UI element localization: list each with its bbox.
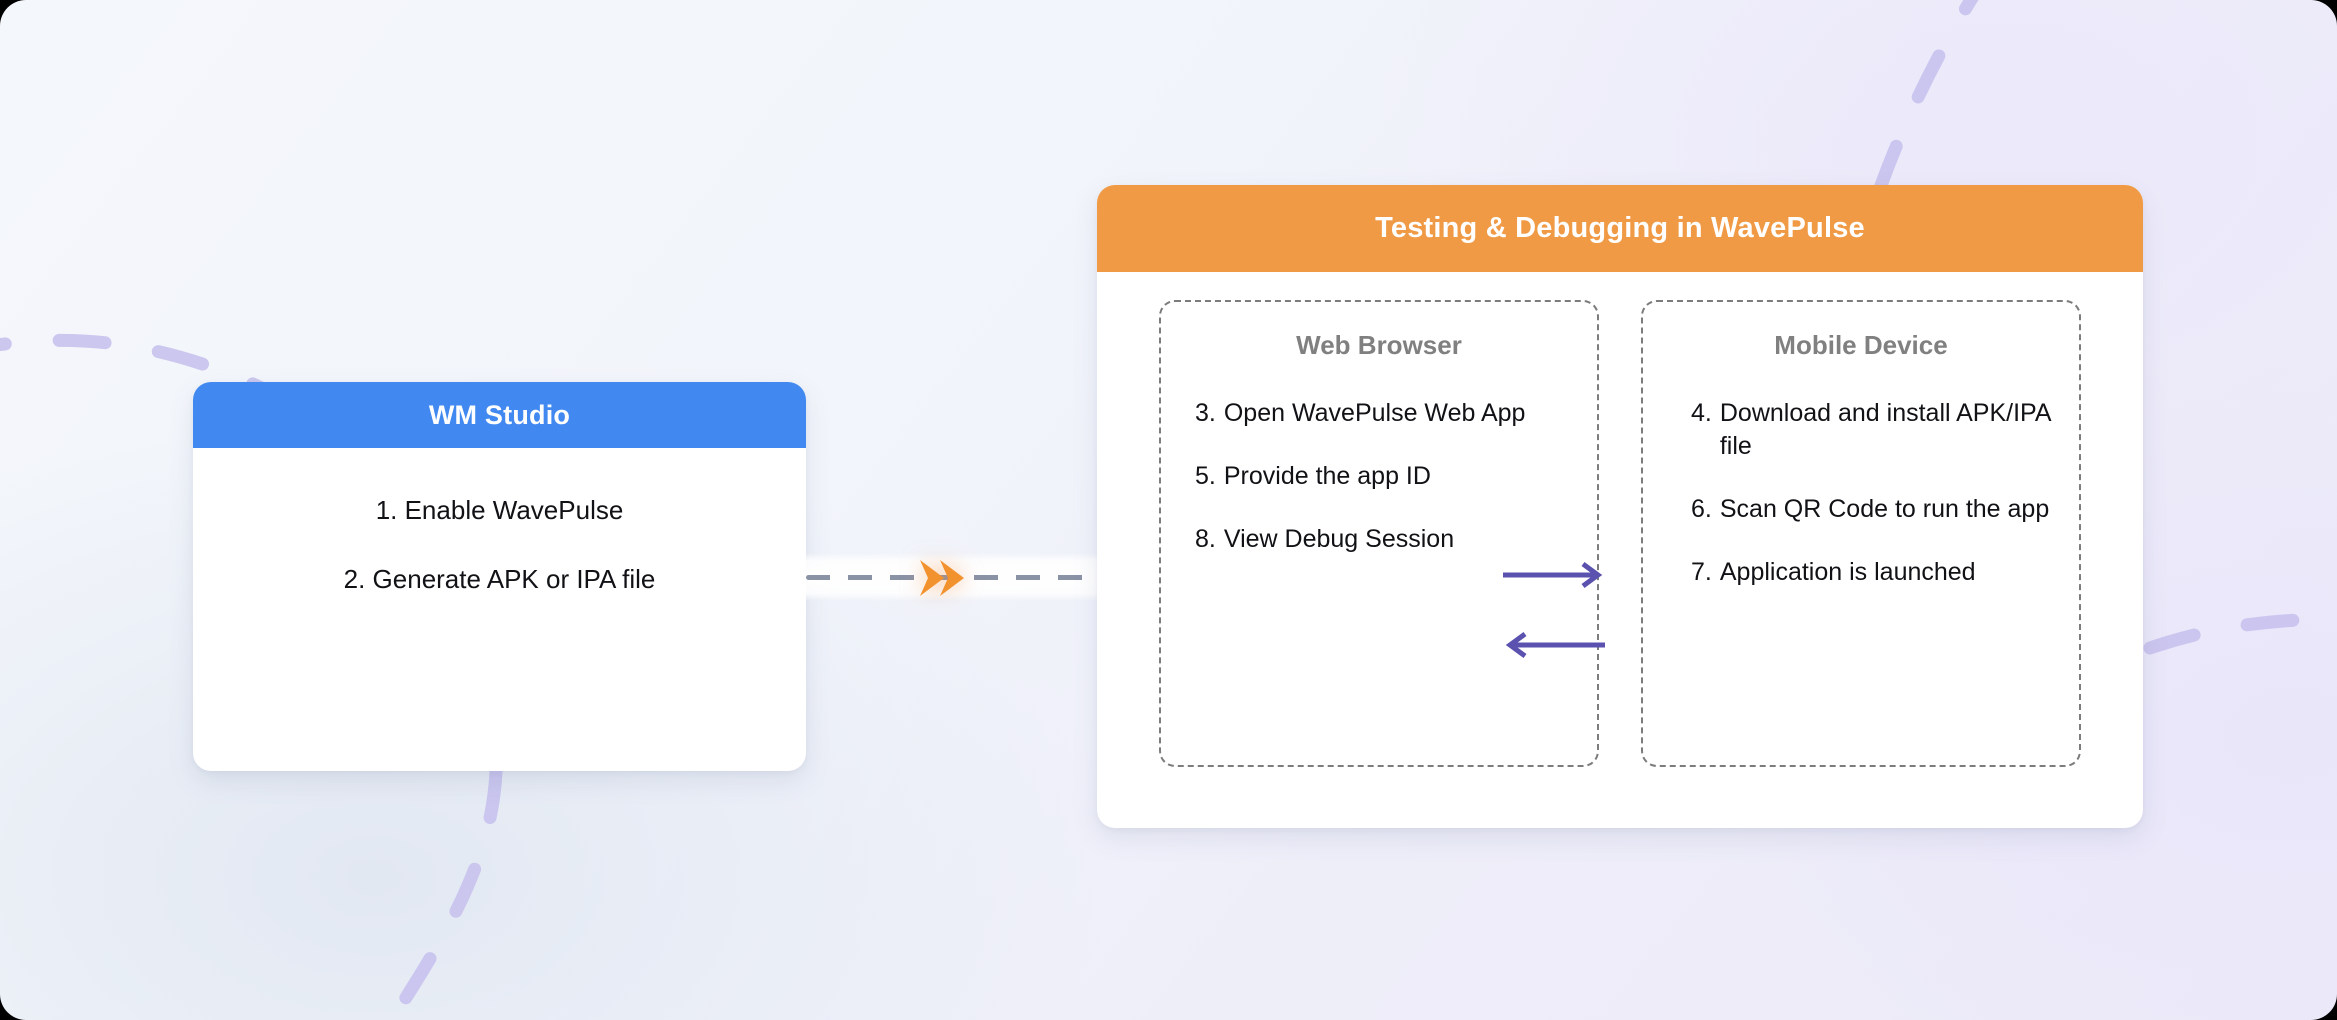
step-number: 7. (1691, 556, 1720, 589)
web-browser-step-3: 3. Open WavePulse Web App (1195, 397, 1579, 430)
mobile-device-step-list: 4. Download and install APK/IPA file 6. … (1643, 397, 2079, 589)
mobile-device-group: Mobile Device 4. Download and install AP… (1641, 300, 2081, 767)
wm-studio-body: 1. Enable WavePulse 2. Generate APK or I… (193, 448, 806, 595)
mobile-device-step-4: 4. Download and install APK/IPA file (1691, 397, 2057, 463)
web-browser-step-list: 3. Open WavePulse Web App 5. Provide the… (1161, 397, 1597, 556)
step-text: Download and install APK/IPA file (1720, 397, 2057, 463)
step-number: 3. (1195, 397, 1224, 430)
wm-studio-step-1: 1. Enable WavePulse (376, 494, 624, 527)
web-browser-group-title: Web Browser (1161, 330, 1597, 361)
step-text: Scan QR Code to run the app (1720, 493, 2057, 526)
step-text: View Debug Session (1224, 523, 1579, 556)
step-number: 8. (1195, 523, 1224, 556)
wm-studio-card: WM Studio 1. Enable WavePulse 2. Generat… (193, 382, 806, 771)
wm-studio-header: WM Studio (193, 382, 806, 448)
double-chevron-right-icon (912, 552, 972, 604)
mobile-device-group-title: Mobile Device (1643, 330, 2079, 361)
wavepulse-header-title: Testing & Debugging in WavePulse (1097, 185, 2143, 272)
wavepulse-card: Testing & Debugging in WavePulse Web Bro… (1097, 185, 2143, 828)
mobile-device-step-6: 6. Scan QR Code to run the app (1691, 493, 2057, 526)
decor-curve-bottom-left (398, 772, 496, 1010)
step-text: Open WavePulse Web App (1224, 397, 1579, 430)
mobile-device-step-7: 7. Application is launched (1691, 556, 2057, 589)
step-number: 4. (1691, 397, 1720, 463)
web-browser-step-5: 5. Provide the app ID (1195, 460, 1579, 493)
step-number: 5. (1195, 460, 1224, 493)
step-text: Provide the app ID (1224, 460, 1579, 493)
web-browser-group: Web Browser 3. Open WavePulse Web App 5.… (1159, 300, 1599, 767)
web-browser-step-8: 8. View Debug Session (1195, 523, 1579, 556)
wavepulse-body: Web Browser 3. Open WavePulse Web App 5.… (1097, 272, 2143, 828)
step-text: Application is launched (1720, 556, 2057, 589)
step-number: 6. (1691, 493, 1720, 526)
diagram-canvas: WM Studio 1. Enable WavePulse 2. Generat… (0, 0, 2337, 1020)
wm-studio-step-2: 2. Generate APK or IPA file (344, 563, 656, 596)
decor-curve-right (2150, 619, 2337, 648)
